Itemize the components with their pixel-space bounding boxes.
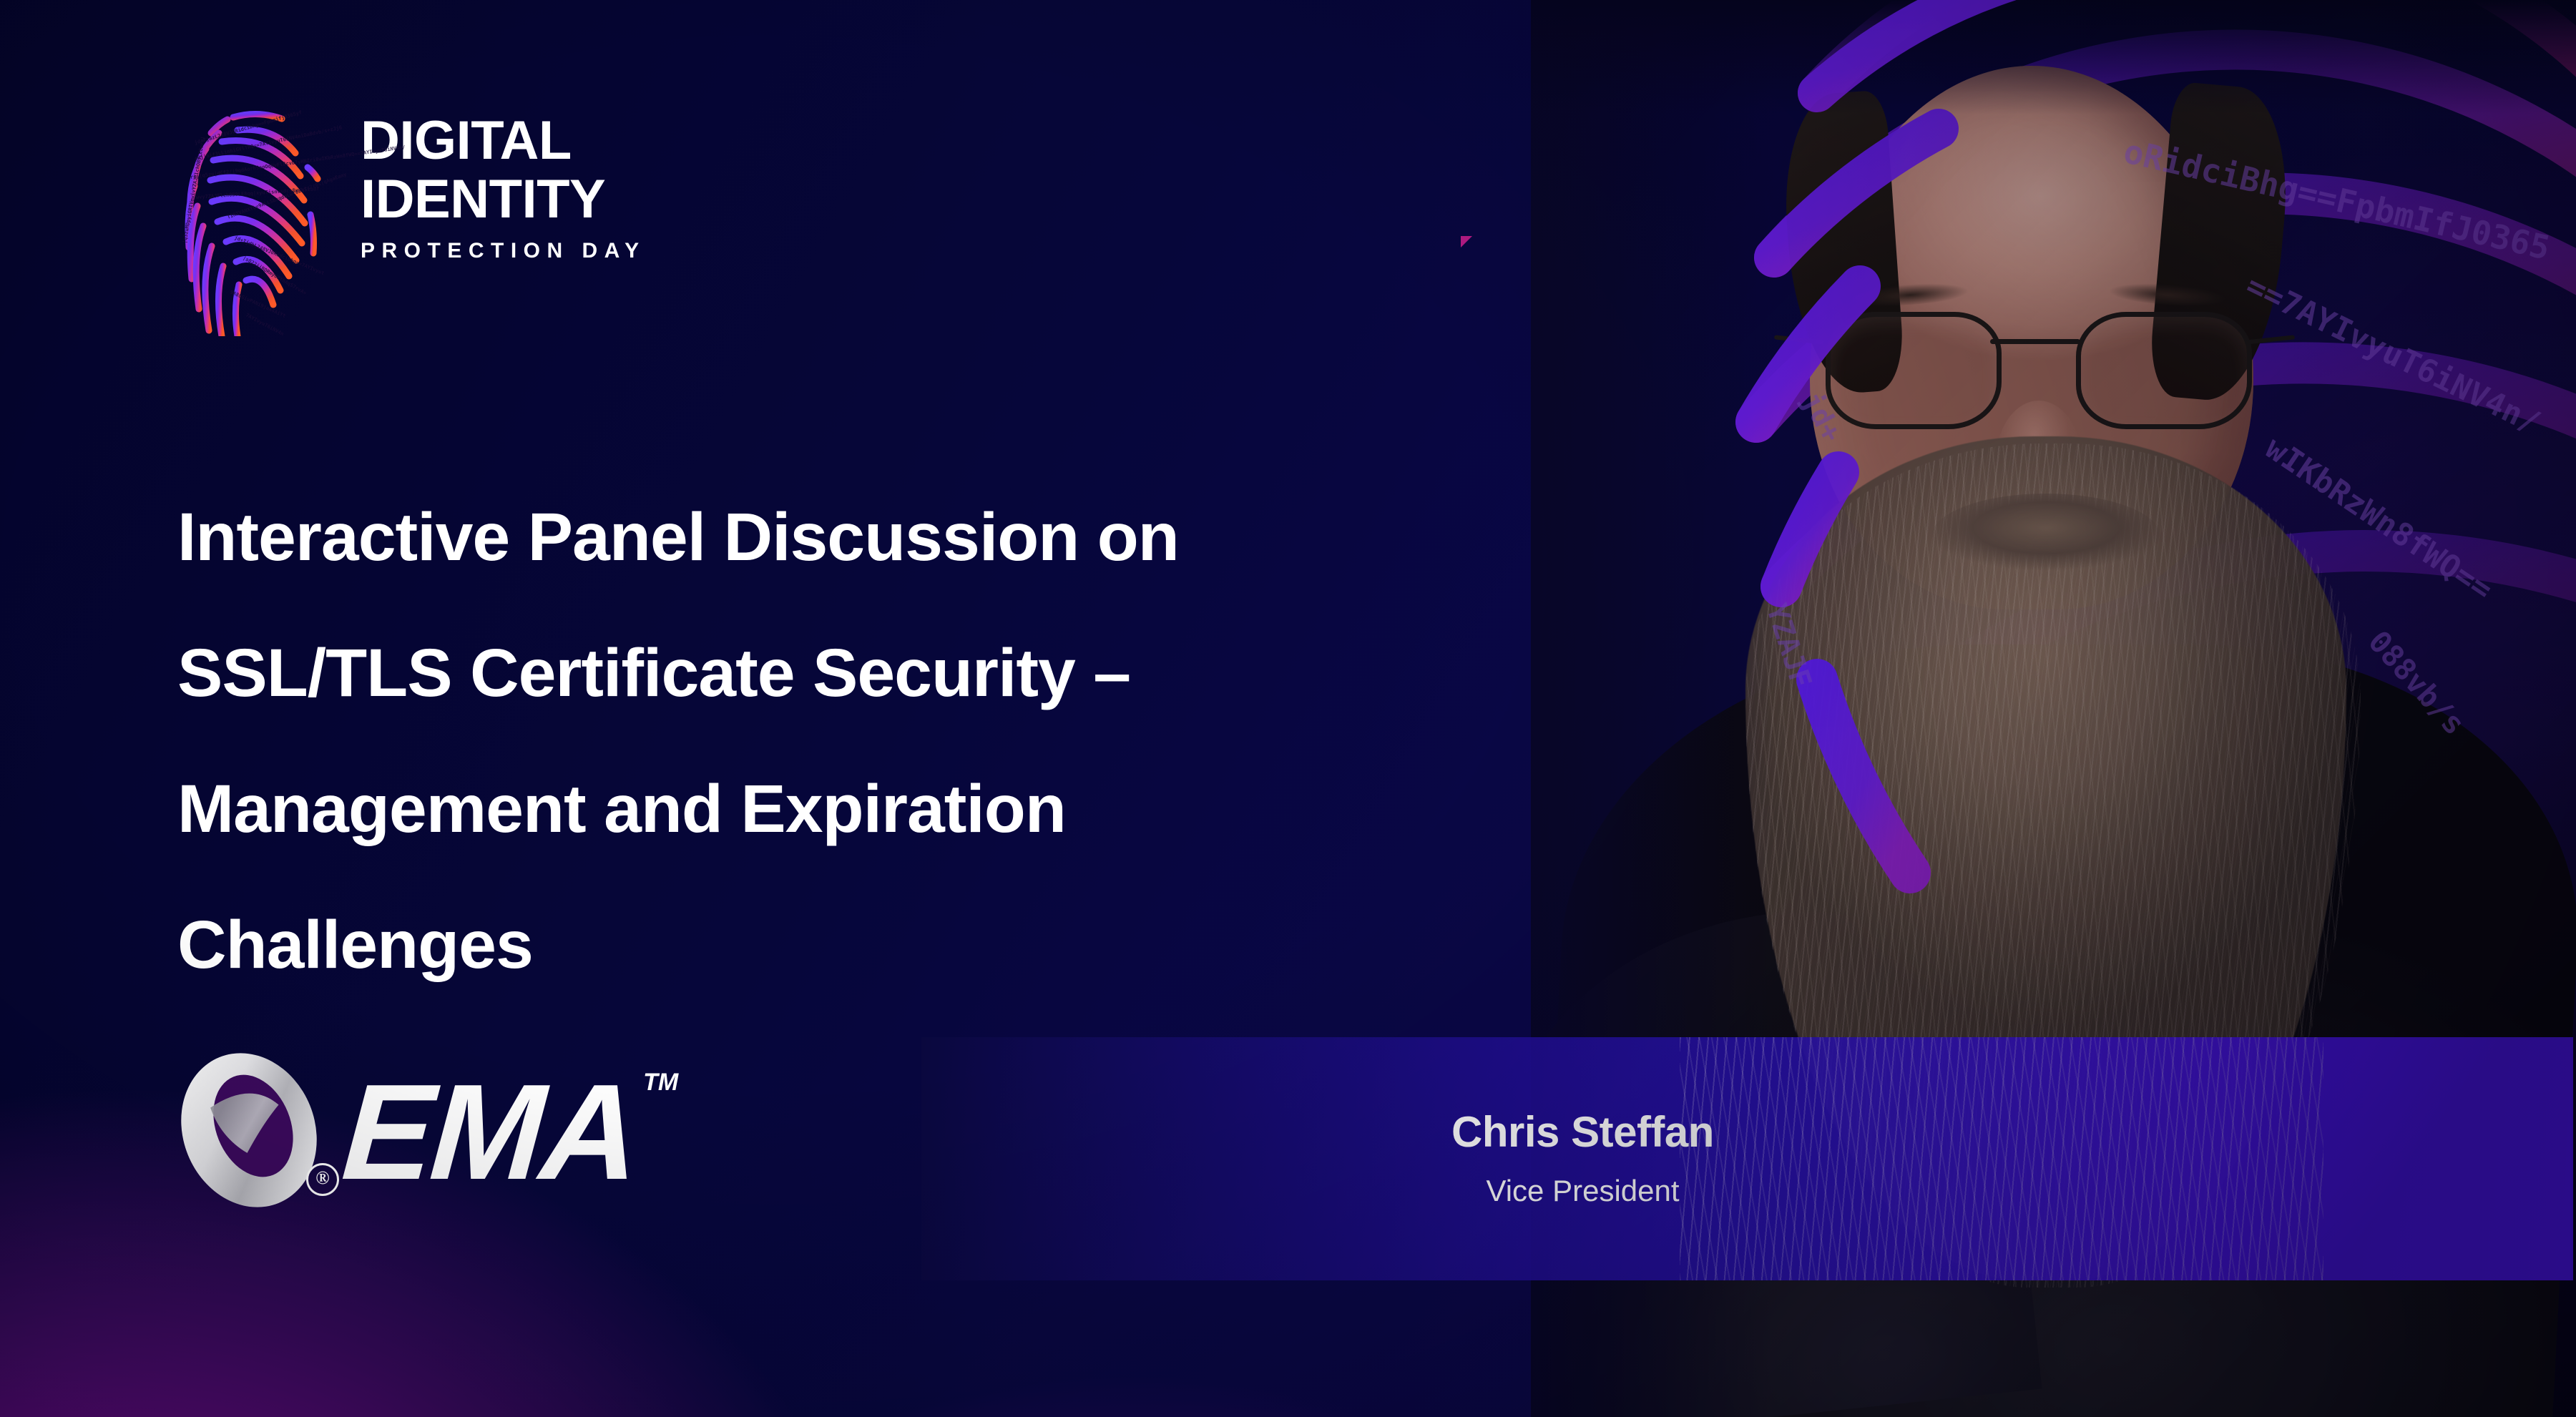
speaker-name: Chris Steffan: [1451, 1109, 1714, 1155]
fingerprint-icon: jd+TjazL248VJ0Ridcibhg==Fpbmifj0365yf cv…: [177, 100, 335, 336]
ema-ring-icon: ®: [177, 1050, 333, 1216]
speaker-name-banner: Chris Steffan Vice President: [921, 1037, 2573, 1280]
brand-line-digital: DIGITAL: [361, 112, 646, 170]
ema-wordmark: EMA: [338, 1064, 642, 1200]
brand-line-protection-day: PROTECTION DAY: [361, 237, 646, 265]
speaker-role: Vice President: [1486, 1174, 1679, 1208]
ema-logo: ® EMA TM: [177, 1050, 637, 1216]
title-line-4: Challenges: [177, 877, 1608, 1013]
portrait-top-fade: [1531, 0, 2576, 114]
ema-wordmark-wrap: EMA TM: [343, 1050, 637, 1200]
brand-wordmark: DIGITAL IDENTITY PROTECTION DAY: [361, 100, 646, 265]
title-line-3: Management and Expiration: [177, 741, 1608, 877]
slide-canvas: oRidciBhg==FpbmIfJ0365 ==7AYIvyuT6iNV4n/…: [0, 0, 2576, 1417]
trademark-mark: TM: [643, 1069, 678, 1097]
render-artifact: [1461, 236, 1472, 247]
title-line-1: Interactive Panel Discussion on: [177, 469, 1608, 605]
registered-mark: ®: [306, 1163, 339, 1196]
brand-line-identity: IDENTITY: [361, 170, 646, 229]
title-line-2: SSL/TLS Certificate Security –: [177, 605, 1608, 741]
session-title: Interactive Panel Discussion on SSL/TLS …: [177, 469, 1608, 1013]
brand-lockup: jd+TjazL248VJ0Ridcibhg==Fpbmifj0365yf cv…: [177, 100, 646, 336]
banner-hair-texture: [1680, 1037, 2323, 1280]
